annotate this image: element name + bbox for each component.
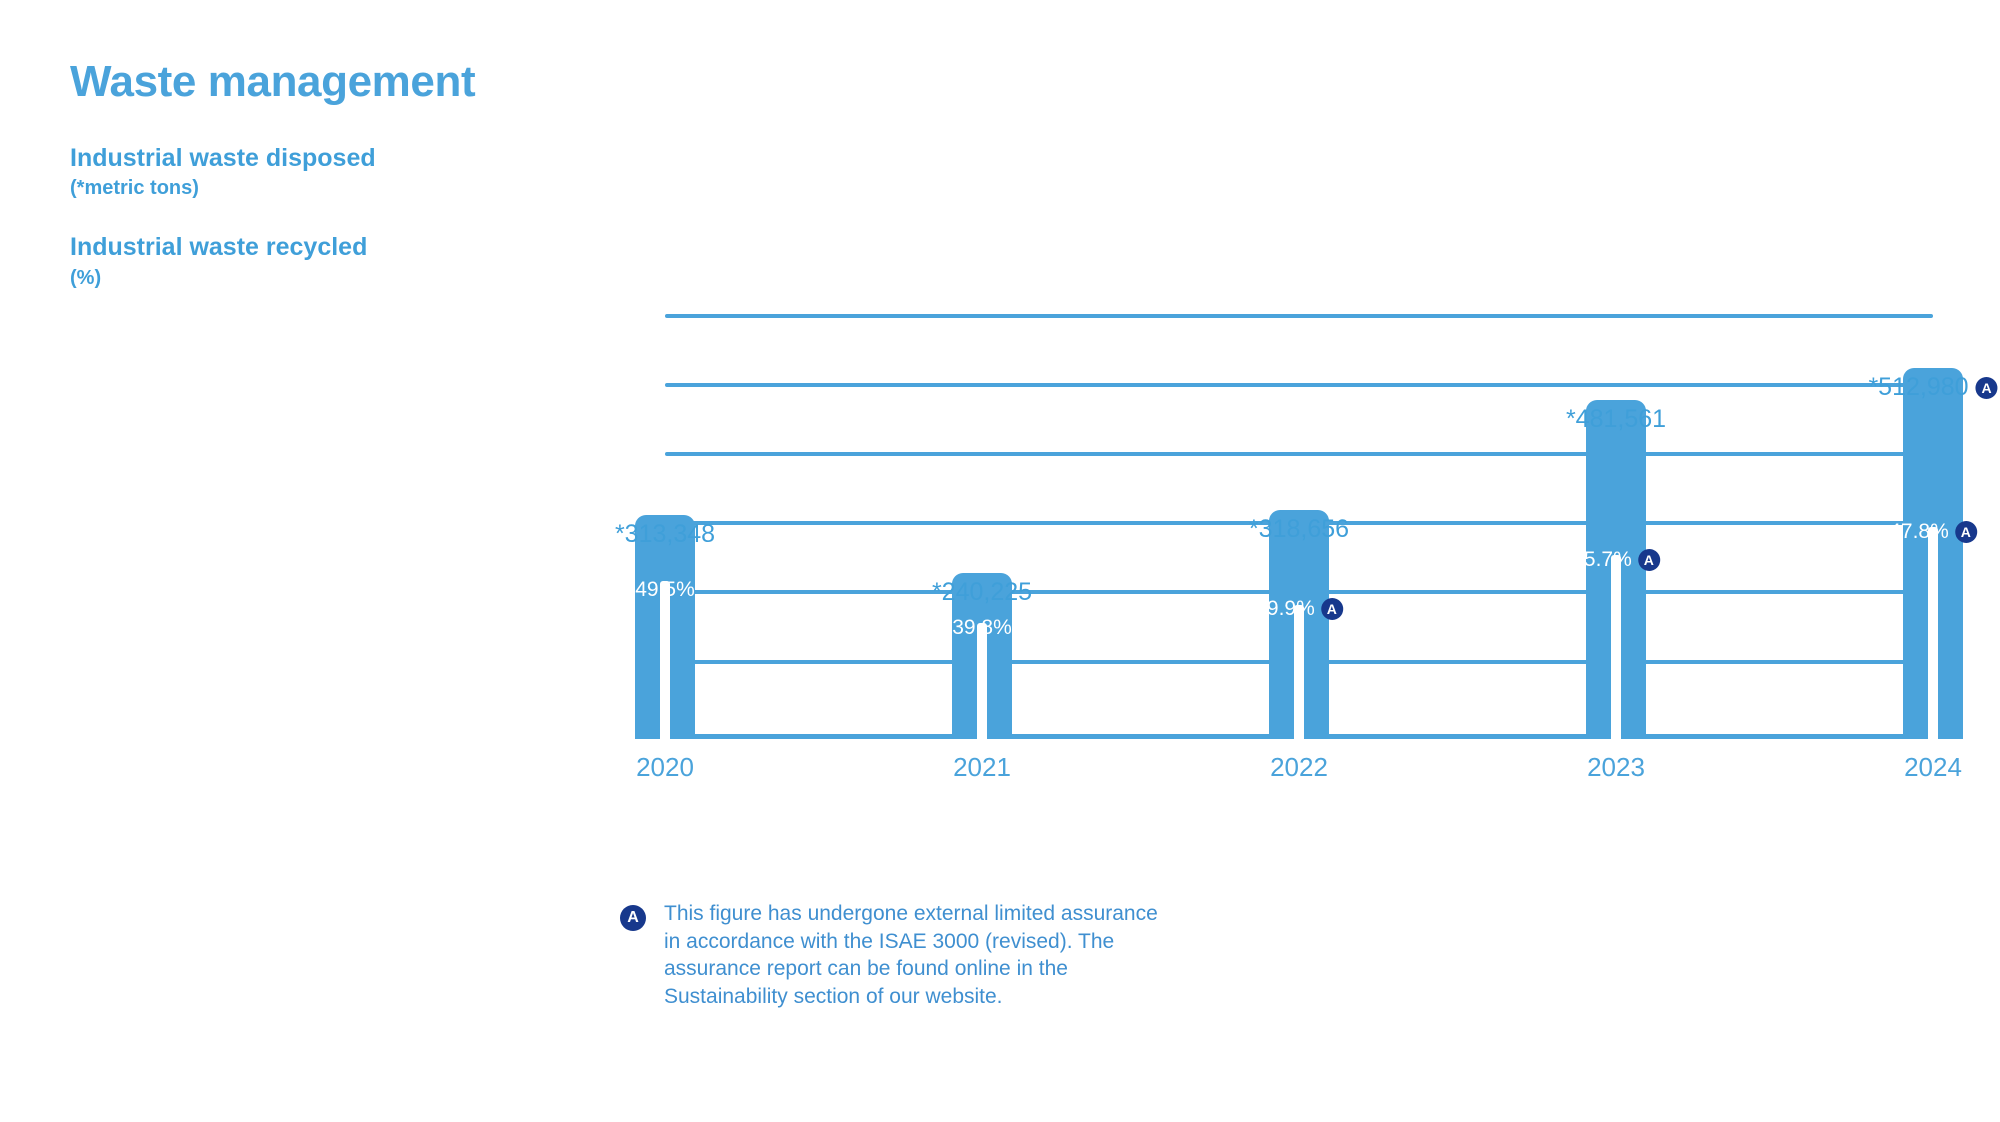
page-title: Waste management bbox=[70, 58, 630, 106]
legend-recycled-unit: (%) bbox=[70, 265, 630, 291]
recycled-pct-label-2021: 39.8% bbox=[952, 616, 1012, 640]
bar-group-2023[interactable]: 35.7%A*481,561 bbox=[1586, 300, 1646, 739]
bar-group-2024[interactable]: 47.8%A*512,980A bbox=[1903, 300, 1963, 739]
disposed-value-label-2023: *481,561 bbox=[1566, 405, 1666, 434]
disposed-value-2021: *240,225 bbox=[932, 578, 1032, 607]
recycled-pct-value-2022: 39.9% bbox=[1255, 597, 1315, 621]
recycled-pct-value-2023: 35.7% bbox=[1572, 548, 1632, 572]
recycled-pct-value-2020: 49.5% bbox=[635, 578, 695, 602]
legend-recycled-label: Industrial waste recycled bbox=[70, 233, 630, 263]
recycled-marker-2024 bbox=[1928, 527, 1938, 739]
bar-group-2021[interactable]: 39.8%*240,225 bbox=[952, 300, 1012, 739]
assurance-badge-icon: A bbox=[620, 905, 646, 931]
x-axis-label-2020: 2020 bbox=[636, 752, 694, 783]
legend-disposed-label: Industrial waste disposed bbox=[70, 144, 630, 174]
bar-group-2020[interactable]: 49.5%*313,348 bbox=[635, 300, 695, 739]
bar-group-2022[interactable]: 39.9%A*318,656 bbox=[1269, 300, 1329, 739]
bar-disposed-2022[interactable] bbox=[1269, 510, 1329, 739]
recycled-pct-label-2022: 39.9%A bbox=[1255, 597, 1343, 621]
assurance-badge-icon-recycled-2024: A bbox=[1955, 521, 1977, 543]
disposed-value-2024: *512,980 bbox=[1868, 373, 1968, 402]
recycled-pct-label-2024: 47.8%A bbox=[1889, 520, 1977, 544]
x-axis-label-2024: 2024 bbox=[1904, 752, 1962, 783]
x-axis-label-2021: 2021 bbox=[953, 752, 1011, 783]
x-axis-label-2023: 2023 bbox=[1587, 752, 1645, 783]
legend-item-disposed: Industrial waste disposed (*metric tons) bbox=[70, 144, 630, 202]
chart-bars-layer: 49.5%*313,34839.8%*240,22539.9%A*318,656… bbox=[665, 300, 1933, 739]
waste-management-chart: 49.5%*313,34839.8%*240,22539.9%A*318,656… bbox=[665, 300, 1933, 750]
disposed-value-label-2021: *240,225 bbox=[932, 578, 1032, 607]
disposed-value-2023: *481,561 bbox=[1566, 405, 1666, 434]
chart-plot-area: 49.5%*313,34839.8%*240,22539.9%A*318,656… bbox=[665, 300, 1933, 739]
recycled-marker-2021 bbox=[977, 623, 987, 739]
disposed-value-2022: *318,656 bbox=[1249, 515, 1349, 544]
recycled-marker-2020 bbox=[660, 581, 670, 739]
chart-x-axis: 20202021202220232024 bbox=[665, 752, 1933, 792]
disposed-value-label-2022: *318,656 bbox=[1249, 515, 1349, 544]
assurance-badge-icon-recycled-2022: A bbox=[1321, 598, 1343, 620]
legend-item-recycled: Industrial waste recycled (%) bbox=[70, 233, 630, 291]
disposed-value-label-2024: *512,980A bbox=[1868, 373, 1997, 402]
x-axis-label-2022: 2022 bbox=[1270, 752, 1328, 783]
assurance-footnote-text: This figure has undergone external limit… bbox=[664, 900, 1158, 1011]
recycled-pct-label-2023: 35.7%A bbox=[1572, 548, 1660, 572]
assurance-badge-icon-disposed-2024: A bbox=[1976, 377, 1998, 399]
recycled-pct-label-2020: 49.5% bbox=[635, 578, 695, 602]
recycled-marker-2022 bbox=[1294, 605, 1304, 739]
assurance-footnote: A This figure has undergone external lim… bbox=[620, 900, 1240, 1011]
disposed-value-label-2020: *313,348 bbox=[615, 520, 715, 549]
assurance-badge-icon-recycled-2023: A bbox=[1638, 549, 1660, 571]
bar-disposed-2024[interactable] bbox=[1903, 368, 1963, 739]
heading-panel: Waste management Industrial waste dispos… bbox=[70, 58, 630, 323]
disposed-value-2020: *313,348 bbox=[615, 520, 715, 549]
recycled-pct-value-2024: 47.8% bbox=[1889, 520, 1949, 544]
recycled-marker-2023 bbox=[1611, 555, 1621, 739]
legend-disposed-unit: (*metric tons) bbox=[70, 175, 630, 201]
recycled-pct-value-2021: 39.8% bbox=[952, 616, 1012, 640]
